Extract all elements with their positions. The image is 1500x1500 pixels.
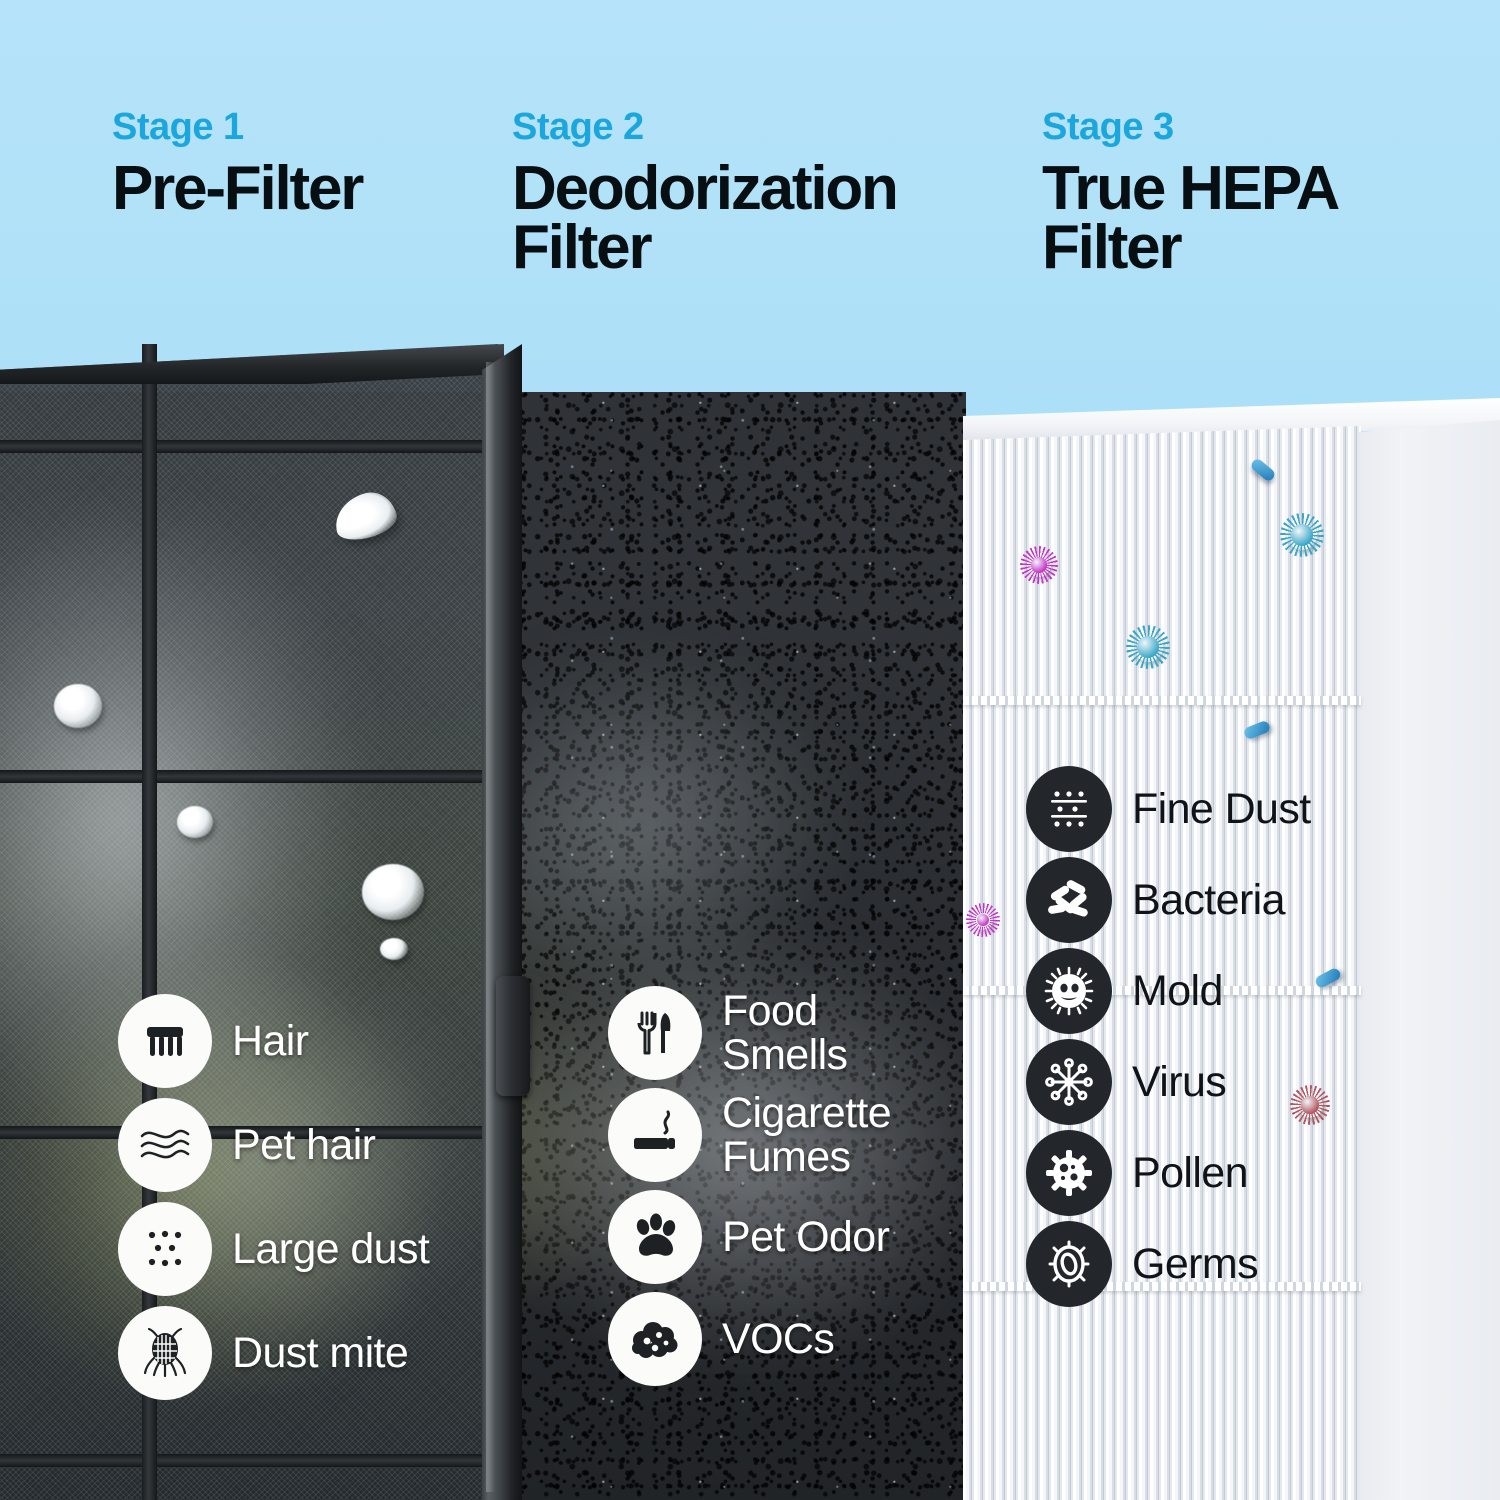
dust-clump bbox=[177, 806, 213, 838]
pre-filter-feature-list: Hair Pet hair Large dust bbox=[118, 994, 429, 1410]
stage-1-title: Pre-Filter bbox=[112, 160, 362, 219]
feature-item-hair[interactable]: Hair bbox=[118, 994, 429, 1088]
frame-crossbar bbox=[0, 770, 498, 783]
infographic-canvas: Stage 1 Pre-Filter Stage 2 Deodorization… bbox=[0, 0, 1500, 1500]
feature-item-vocs[interactable]: VOCs bbox=[608, 1292, 891, 1386]
feature-label: Pet hair bbox=[232, 1123, 375, 1167]
paw-print-icon bbox=[608, 1190, 702, 1284]
stage-1-heading: Stage 1 Pre-Filter bbox=[112, 108, 362, 219]
filter-handle[interactable] bbox=[496, 976, 530, 1096]
wavy-hair-icon bbox=[118, 1098, 212, 1192]
frame-crossbar bbox=[0, 440, 498, 453]
fine-dust-icon bbox=[1026, 766, 1112, 852]
bacteria-icon bbox=[1026, 857, 1112, 943]
feature-item-pet-odor[interactable]: Pet Odor bbox=[608, 1190, 891, 1284]
feature-label: Fine Dust bbox=[1132, 787, 1311, 831]
feature-label: VOCs bbox=[722, 1317, 834, 1361]
feature-item-virus[interactable]: Virus bbox=[1026, 1039, 1311, 1125]
hepa-side-panel bbox=[1359, 420, 1500, 1500]
feature-label: Virus bbox=[1132, 1060, 1226, 1104]
mold-icon bbox=[1026, 948, 1112, 1034]
feature-label: Dust mite bbox=[232, 1331, 408, 1375]
feature-item-fine-dust[interactable]: Fine Dust bbox=[1026, 766, 1311, 852]
feature-label: Hair bbox=[232, 1019, 308, 1063]
dust-dots-icon bbox=[118, 1202, 212, 1296]
virus-icon bbox=[1026, 1039, 1112, 1125]
feature-label: Germs bbox=[1132, 1242, 1258, 1286]
virus-particle bbox=[1133, 632, 1163, 662]
stage-1-kicker: Stage 1 bbox=[112, 108, 362, 146]
frame-rail-highlight bbox=[486, 362, 495, 1492]
feature-label: Pet Odor bbox=[722, 1215, 889, 1259]
feature-label: Large dust bbox=[232, 1227, 429, 1271]
cigarette-icon bbox=[608, 1088, 702, 1182]
feature-label: Food Smells bbox=[722, 989, 847, 1078]
feature-item-food-smells[interactable]: Food Smells bbox=[608, 986, 891, 1080]
feature-label: Mold bbox=[1132, 969, 1223, 1013]
feature-item-germs[interactable]: Germs bbox=[1026, 1221, 1311, 1307]
pollen-particle bbox=[1027, 553, 1051, 577]
deodorization-feature-list: Food Smells Cigarette Fumes bbox=[608, 986, 891, 1394]
feature-item-dust-mite[interactable]: Dust mite bbox=[118, 1306, 429, 1400]
stage-2-title: Deodorization Filter bbox=[512, 160, 897, 278]
fork-knife-icon bbox=[608, 986, 702, 1080]
virus-particle bbox=[1287, 520, 1317, 550]
stage-3-kicker: Stage 3 bbox=[1042, 108, 1338, 146]
comb-icon bbox=[118, 994, 212, 1088]
feature-label: Bacteria bbox=[1132, 878, 1285, 922]
dust-clump bbox=[54, 684, 102, 728]
dust-clump bbox=[362, 864, 424, 920]
gas-cloud-icon bbox=[608, 1292, 702, 1386]
feature-label: Cigarette Fumes bbox=[722, 1091, 891, 1180]
feature-item-pet-hair[interactable]: Pet hair bbox=[118, 1098, 429, 1192]
dust-clump bbox=[380, 938, 408, 960]
dust-mite-icon bbox=[118, 1306, 212, 1400]
feature-item-cigarette-fumes[interactable]: Cigarette Fumes bbox=[608, 1088, 891, 1182]
hepa-feature-list: Fine Dust Bacteria bbox=[1026, 766, 1311, 1312]
feature-item-pollen[interactable]: Pollen bbox=[1026, 1130, 1311, 1216]
pollen-icon bbox=[1026, 1130, 1112, 1216]
frame-crossbar bbox=[0, 1454, 498, 1467]
stage-2-kicker: Stage 2 bbox=[512, 108, 897, 146]
stage-3-heading: Stage 3 True HEPA Filter bbox=[1042, 108, 1338, 278]
feature-item-large-dust[interactable]: Large dust bbox=[118, 1202, 429, 1296]
pollen-particle bbox=[973, 910, 993, 930]
hepa-separator-band bbox=[963, 696, 1361, 705]
germ-cell-icon bbox=[1026, 1221, 1112, 1307]
feature-item-mold[interactable]: Mold bbox=[1026, 948, 1311, 1034]
feature-label: Pollen bbox=[1132, 1151, 1248, 1195]
stage-3-title: True HEPA Filter bbox=[1042, 160, 1338, 278]
stage-2-heading: Stage 2 Deodorization Filter bbox=[512, 108, 897, 278]
feature-item-bacteria[interactable]: Bacteria bbox=[1026, 857, 1311, 943]
